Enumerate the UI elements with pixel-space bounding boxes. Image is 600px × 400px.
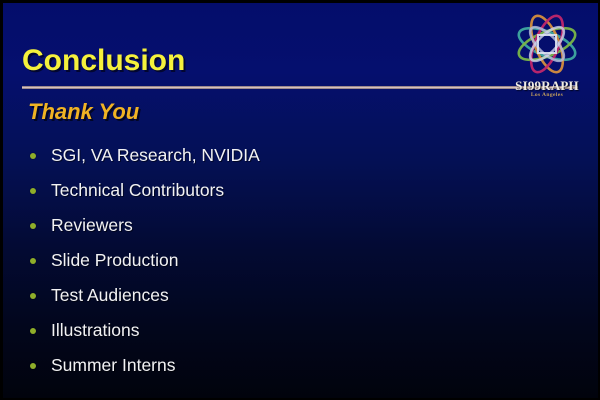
bullet-dot-icon [30,328,36,334]
bullet-list: SGI, VA Research, NVIDIA Technical Contr… [30,138,470,383]
list-item-label: Reviewers [51,215,133,236]
list-item-label: Summer Interns [51,355,175,376]
list-item: Test Audiences [30,278,470,313]
list-item: SGI, VA Research, NVIDIA [30,138,470,173]
list-item: Technical Contributors [30,173,470,208]
slide-subtitle: Thank You [28,99,139,125]
siggraph-logo: SI99RAPH Los Angeles [498,8,596,103]
list-item: Slide Production [30,243,470,278]
siggraph-rings-icon [498,8,596,86]
list-item-label: Technical Contributors [51,180,224,201]
list-item: Illustrations [30,313,470,348]
page-title: Conclusion [22,44,185,78]
presentation-slide: Conclusion Thank You SGI, VA Research, N… [0,0,600,400]
list-item-label: Illustrations [51,320,140,341]
list-item-label: SGI, VA Research, NVIDIA [51,145,260,166]
list-item-label: Test Audiences [51,285,169,306]
bullet-dot-icon [30,188,36,194]
bullet-dot-icon [30,153,36,159]
bullet-dot-icon [30,223,36,229]
list-item-label: Slide Production [51,250,178,271]
list-item: Reviewers [30,208,470,243]
bullet-dot-icon [30,293,36,299]
bullet-dot-icon [30,363,36,369]
siggraph-city-label: Los Angeles [498,92,596,98]
bullet-dot-icon [30,258,36,264]
title-divider [22,86,578,89]
list-item: Summer Interns [30,348,470,383]
